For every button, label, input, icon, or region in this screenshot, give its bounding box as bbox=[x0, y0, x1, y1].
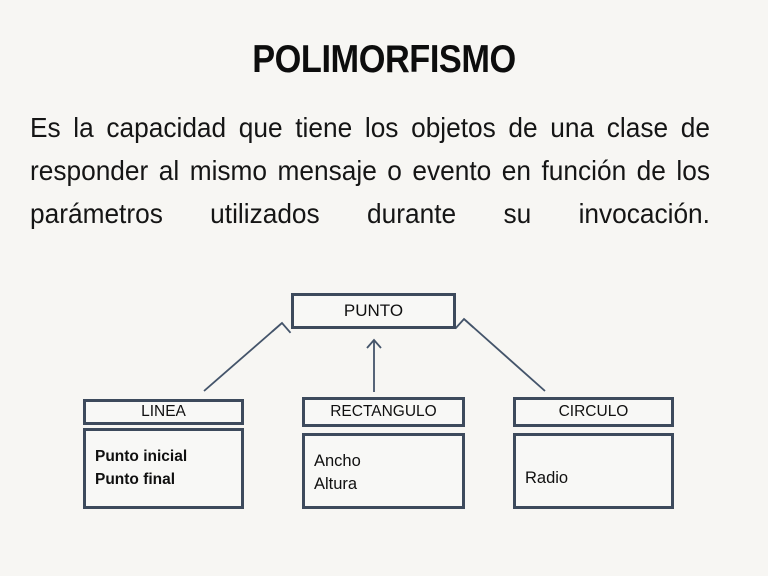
uml-class-name-circulo: CIRCULO bbox=[559, 403, 629, 421]
uml-class-linea-header[interactable]: LINEA bbox=[83, 399, 244, 425]
uml-class-punto[interactable]: PUNTO bbox=[291, 293, 456, 329]
uml-attribute: Punto inicial bbox=[95, 445, 232, 468]
uml-class-linea-attributes[interactable]: Punto inicial Punto final bbox=[83, 428, 244, 509]
uml-class-rectangulo-header[interactable]: RECTANGULO bbox=[302, 397, 465, 427]
uml-attribute: Altura bbox=[314, 473, 453, 496]
uml-class-name-rectangulo: RECTANGULO bbox=[330, 403, 437, 421]
uml-class-name-punto: PUNTO bbox=[344, 301, 403, 321]
arrow-rectangulo-to-punto bbox=[367, 340, 381, 392]
arrow-circulo-to-punto bbox=[455, 319, 545, 391]
uml-attribute: Punto final bbox=[95, 468, 232, 491]
uml-attribute: Ancho bbox=[314, 450, 453, 473]
uml-class-rectangulo-attributes[interactable]: Ancho Altura bbox=[302, 433, 465, 509]
uml-class-diagram: PUNTO LINEA Punto inicial Punto final RE… bbox=[0, 0, 768, 576]
uml-class-name-linea: LINEA bbox=[141, 403, 186, 421]
uml-class-circulo-attributes[interactable]: Radio bbox=[513, 433, 674, 509]
arrow-linea-to-punto bbox=[204, 323, 291, 391]
uml-class-circulo-header[interactable]: CIRCULO bbox=[513, 397, 674, 427]
slide-canvas: POLIMORFISMO Es la capacidad que tiene l… bbox=[0, 0, 768, 576]
uml-attribute: Radio bbox=[525, 467, 568, 490]
